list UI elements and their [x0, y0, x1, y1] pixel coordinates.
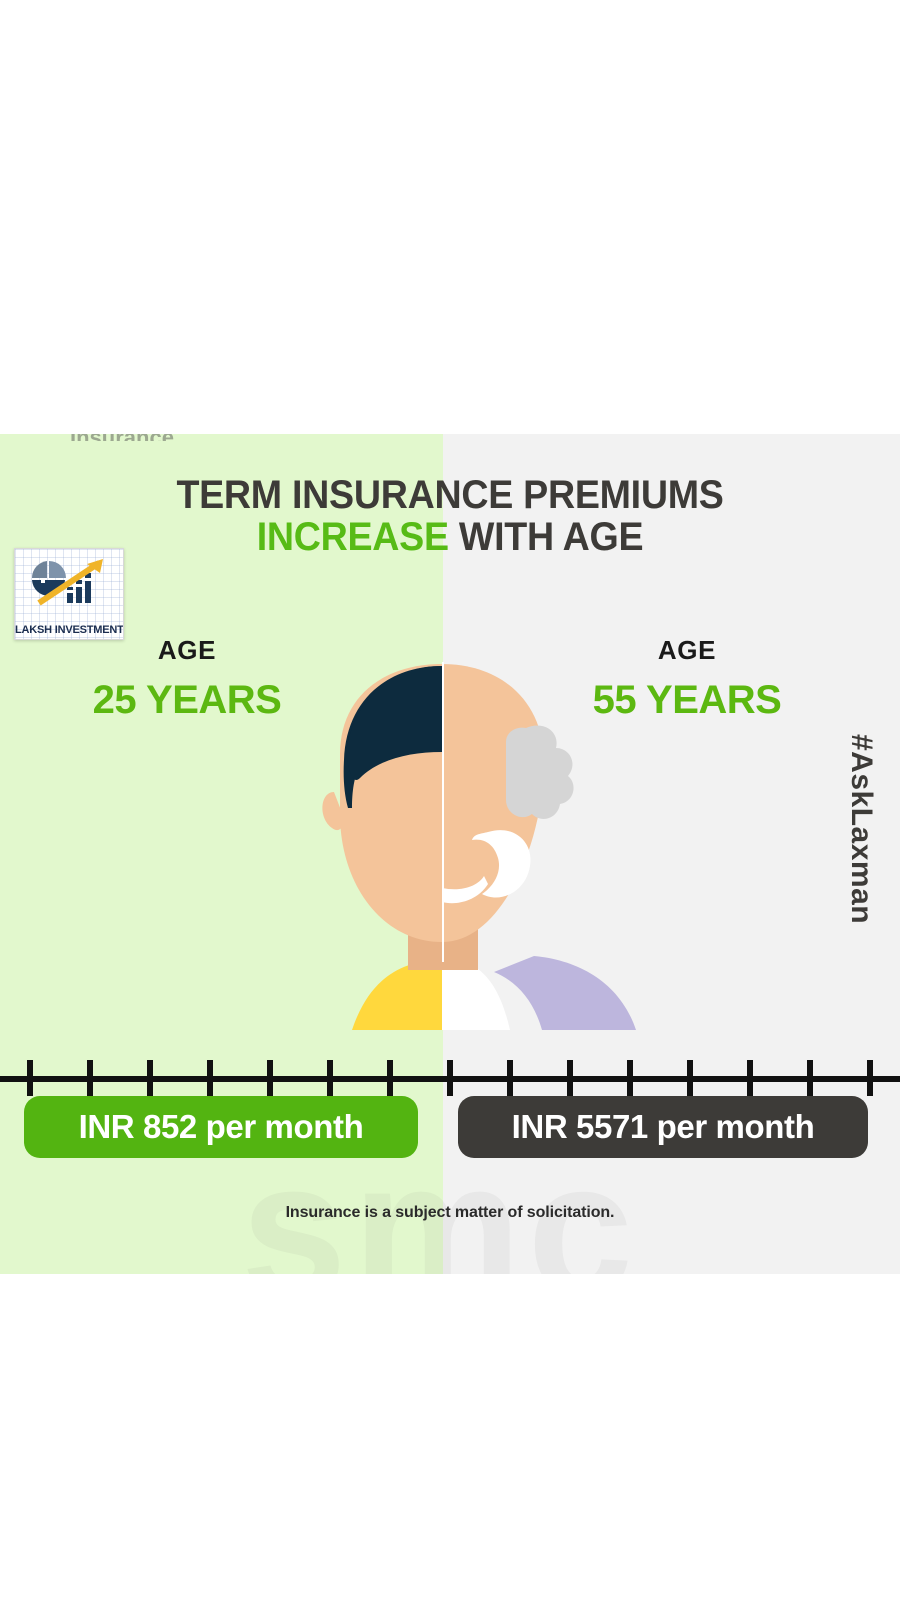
- ruler-tick: [627, 1060, 633, 1096]
- age-group-young: AGE 25 YEARS: [22, 636, 352, 721]
- old-premium-label: INR 5571 per month: [512, 1108, 815, 1146]
- ruler-tick: [87, 1060, 93, 1096]
- headline-line-1: TERM INSURANCE PREMIUMS: [27, 474, 873, 516]
- hashtag-label: #AskLaxman: [844, 734, 878, 924]
- ruler-tick: [387, 1060, 393, 1096]
- ruler-tick: [567, 1060, 573, 1096]
- chart-arrow-icon: [15, 551, 124, 613]
- ruler-tick: [747, 1060, 753, 1096]
- logo-text: LAKSH INVESTMENTS: [15, 624, 124, 636]
- age-group-old: AGE 55 YEARS: [522, 636, 852, 721]
- insurance-comparison-poster: Insurance smc TERM INSURANCE PREMIUMS IN…: [0, 434, 900, 1274]
- ruler-tick: [867, 1060, 873, 1096]
- age-label-young: AGE: [22, 636, 352, 665]
- headline-highlight: INCREASE: [257, 515, 449, 559]
- clipped-top-text: Insurance: [70, 434, 270, 441]
- ruler-tick: [207, 1060, 213, 1096]
- headline-line-2: INCREASE WITH AGE: [27, 516, 873, 558]
- poster-canvas: Insurance smc TERM INSURANCE PREMIUMS IN…: [0, 0, 900, 1600]
- page-title: TERM INSURANCE PREMIUMS INCREASE WITH AG…: [0, 474, 900, 558]
- brand-logo[interactable]: LAKSH INVESTMENTS: [14, 548, 124, 640]
- ruler-tick: [687, 1060, 693, 1096]
- ruler-tick: [507, 1060, 513, 1096]
- age-label-old: AGE: [522, 636, 852, 665]
- headline-rest: WITH AGE: [449, 515, 644, 559]
- ruler-tick: [267, 1060, 273, 1096]
- status-badge-old-premium: INR 5571 per month: [458, 1096, 868, 1158]
- status-badge-young-premium: INR 852 per month: [24, 1096, 418, 1158]
- age-value-young: 25 YEARS: [22, 679, 352, 721]
- disclaimer-text: Insurance is a subject matter of solicit…: [0, 1204, 900, 1222]
- ruler-tick: [147, 1060, 153, 1096]
- clipped-top-text-label: Insurance: [70, 434, 270, 441]
- young-premium-label: INR 852 per month: [79, 1108, 364, 1146]
- ruler-tick: [27, 1060, 33, 1096]
- timeline-ruler: [0, 1054, 900, 1100]
- age-value-old: 55 YEARS: [522, 679, 852, 721]
- ruler-tick: [807, 1060, 813, 1096]
- ruler-tick: [327, 1060, 333, 1096]
- ruler-tick: [447, 1060, 453, 1096]
